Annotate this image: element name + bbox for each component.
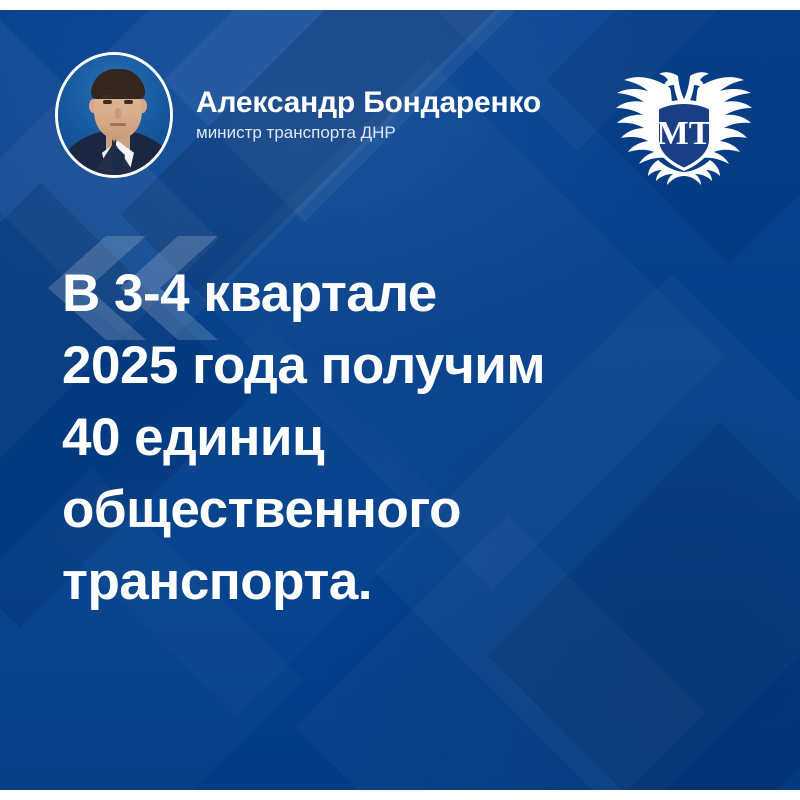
avatar-eye-left bbox=[103, 100, 112, 104]
avatar-mouth bbox=[110, 123, 126, 126]
emblem-shield-text: МТ bbox=[657, 115, 712, 152]
social-quote-card: Александр Бондаренко министр транспорта … bbox=[0, 0, 800, 800]
avatar-brow-right bbox=[123, 95, 134, 98]
quote-line: транспорта. bbox=[62, 546, 712, 618]
quote-line: общественного bbox=[62, 474, 712, 546]
quote-text: В 3-4 квартале 2025 года получим 40 един… bbox=[62, 258, 712, 618]
avatar-brow-left bbox=[102, 95, 113, 98]
dnr-ministry-emblem-icon: МТ bbox=[608, 54, 760, 192]
card-header: Александр Бондаренко министр транспорта … bbox=[0, 10, 800, 210]
quote-line: 2025 года получим bbox=[62, 330, 712, 402]
card-stage: Александр Бондаренко министр транспорта … bbox=[0, 10, 800, 790]
speaker-identity: Александр Бондаренко министр транспорта … bbox=[196, 86, 616, 144]
quote-line: В 3-4 квартале bbox=[62, 258, 712, 330]
avatar-nose bbox=[115, 108, 121, 119]
speaker-name: Александр Бондаренко bbox=[196, 86, 616, 120]
speaker-role: министр транспорта ДНР bbox=[196, 122, 616, 144]
quote-line: 40 единиц bbox=[62, 402, 712, 474]
avatar-eye-right bbox=[124, 100, 133, 104]
avatar bbox=[55, 52, 173, 178]
